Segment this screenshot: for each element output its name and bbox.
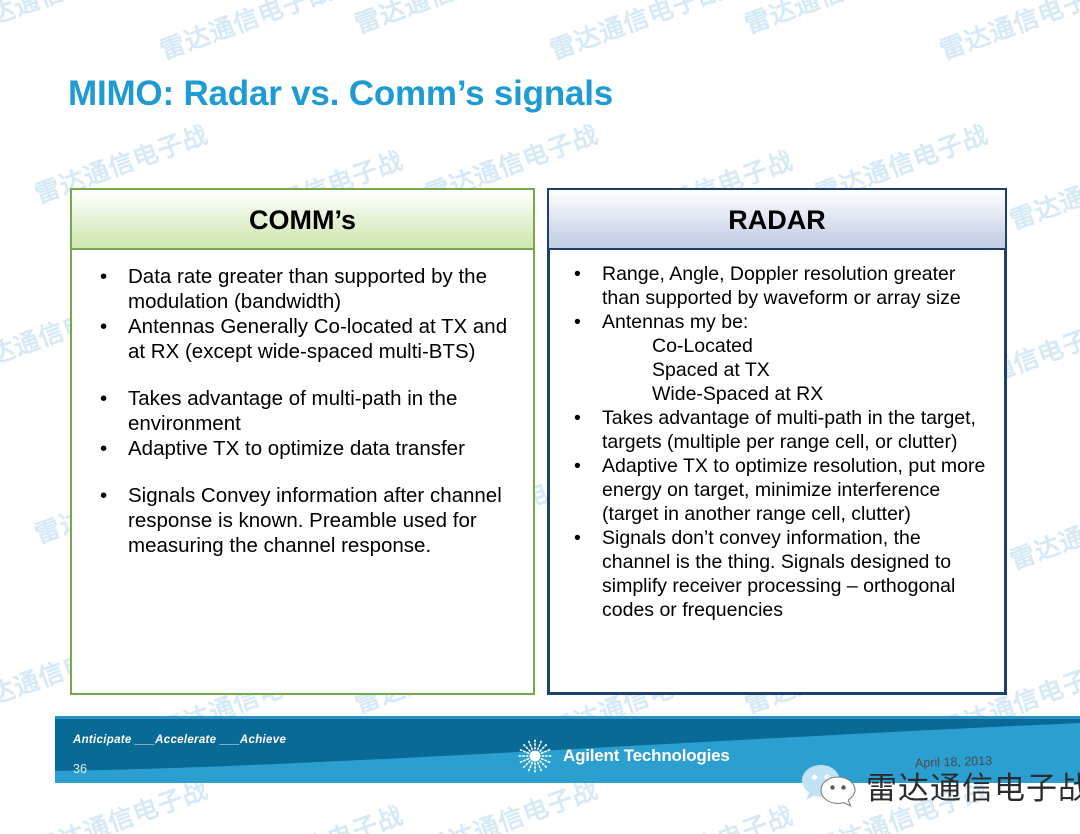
watermark-text: 雷达通信电子战 xyxy=(739,0,922,41)
list-item: • Adaptive TX to optimize data transfer xyxy=(86,436,521,461)
list-item-text: Adaptive TX to optimize resolution, put … xyxy=(602,455,985,525)
list-item-text: Signals Convey information after channel… xyxy=(128,484,502,557)
comms-header: COMM’s xyxy=(70,188,535,250)
sub-list-item: Spaced at TX xyxy=(652,358,994,382)
list-item-text: Antennas my be: xyxy=(602,311,748,333)
comparison-box-comms: COMM’s • Data rate greater than supporte… xyxy=(70,188,535,695)
watermark-text: 雷达通信电子战 xyxy=(544,0,727,67)
bullet-icon: • xyxy=(100,314,107,339)
list-item: • Antennas my be: Co-Located Spaced at T… xyxy=(560,310,994,406)
bullet-icon: • xyxy=(100,386,107,411)
list-item: • Data rate greater than supported by th… xyxy=(86,264,521,314)
comms-body: • Data rate greater than supported by th… xyxy=(70,250,535,695)
bullet-icon: • xyxy=(574,406,581,430)
list-item: • Takes advantage of multi-path in the t… xyxy=(560,406,994,454)
list-item-text: Range, Angle, Doppler resolution greater… xyxy=(602,263,961,309)
watermark-text: 雷达通信电子战 xyxy=(0,0,143,41)
watermark-text: 雷达通信电子战 xyxy=(1004,141,1080,237)
bullet-icon: • xyxy=(574,526,581,550)
agilent-starburst-icon xyxy=(515,736,555,776)
list-item: • Adaptive TX to optimize resolution, pu… xyxy=(560,454,994,526)
agilent-brand-name: Agilent Technologies xyxy=(563,746,730,766)
comparison-box-radar: RADAR • Range, Angle, Doppler resolution… xyxy=(547,188,1007,695)
list-item-text: Signals don’t convey information, the ch… xyxy=(602,527,955,621)
list-item-text: Adaptive TX to optimize data transfer xyxy=(128,437,465,460)
bullet-icon: • xyxy=(100,264,107,289)
list-item-text: Antennas Generally Co-located at TX and … xyxy=(128,315,507,363)
comms-bullet-list: • Data rate greater than supported by th… xyxy=(86,264,521,558)
radar-body: • Range, Angle, Doppler resolution great… xyxy=(547,250,1007,695)
bullet-icon: • xyxy=(574,454,581,478)
list-item: • Signals don’t convey information, the … xyxy=(560,526,994,622)
watermark-text: 雷达通信电子战 xyxy=(614,796,797,834)
list-item: • Takes advantage of multi-path in the e… xyxy=(86,386,521,436)
list-item: • Range, Angle, Doppler resolution great… xyxy=(560,262,994,310)
bullet-icon: • xyxy=(100,436,107,461)
sub-list-item: Wide-Spaced at RX xyxy=(652,382,994,406)
footer-tagline: Anticipate ___Accelerate ___Achieve xyxy=(73,734,286,746)
slide-date: April 18, 2013 xyxy=(915,754,993,771)
wechat-icon xyxy=(800,762,862,808)
list-item-text: Data rate greater than supported by the … xyxy=(128,265,487,313)
agilent-logo: Agilent Technologies xyxy=(515,736,730,776)
antenna-sub-list: Co-Located Spaced at TX Wide-Spaced at R… xyxy=(602,334,994,406)
bullet-icon: • xyxy=(100,483,107,508)
list-item-text: Takes advantage of multi-path in the tar… xyxy=(602,407,976,453)
list-spacer xyxy=(86,461,521,483)
watermark-text: 雷达通信电子战 xyxy=(224,796,407,834)
radar-header: RADAR xyxy=(547,188,1007,250)
watermark-text: 雷达通信电子战 xyxy=(934,0,1080,67)
wechat-account-name: 雷达通信电子战 xyxy=(866,763,1080,808)
sub-list-item: Co-Located xyxy=(652,334,994,358)
bullet-icon: • xyxy=(574,310,581,334)
slide: MIMO: Radar vs. Comm’s signals COMM’s • … xyxy=(0,0,1080,834)
list-item: • Antennas Generally Co-located at TX an… xyxy=(86,314,521,364)
list-item-text: Takes advantage of multi-path in the env… xyxy=(128,387,457,435)
radar-bullet-list: • Range, Angle, Doppler resolution great… xyxy=(560,262,994,622)
watermark-text: 雷达通信电子战 xyxy=(154,0,337,67)
page-title: MIMO: Radar vs. Comm’s signals xyxy=(68,74,613,114)
watermark-text: 雷达通信电子战 xyxy=(349,0,532,41)
bullet-icon: • xyxy=(574,262,581,286)
list-spacer xyxy=(86,364,521,386)
watermark-text: 雷达通信电子战 xyxy=(1004,481,1080,577)
list-item: • Signals Convey information after chann… xyxy=(86,483,521,558)
slide-number: 36 xyxy=(73,762,87,776)
